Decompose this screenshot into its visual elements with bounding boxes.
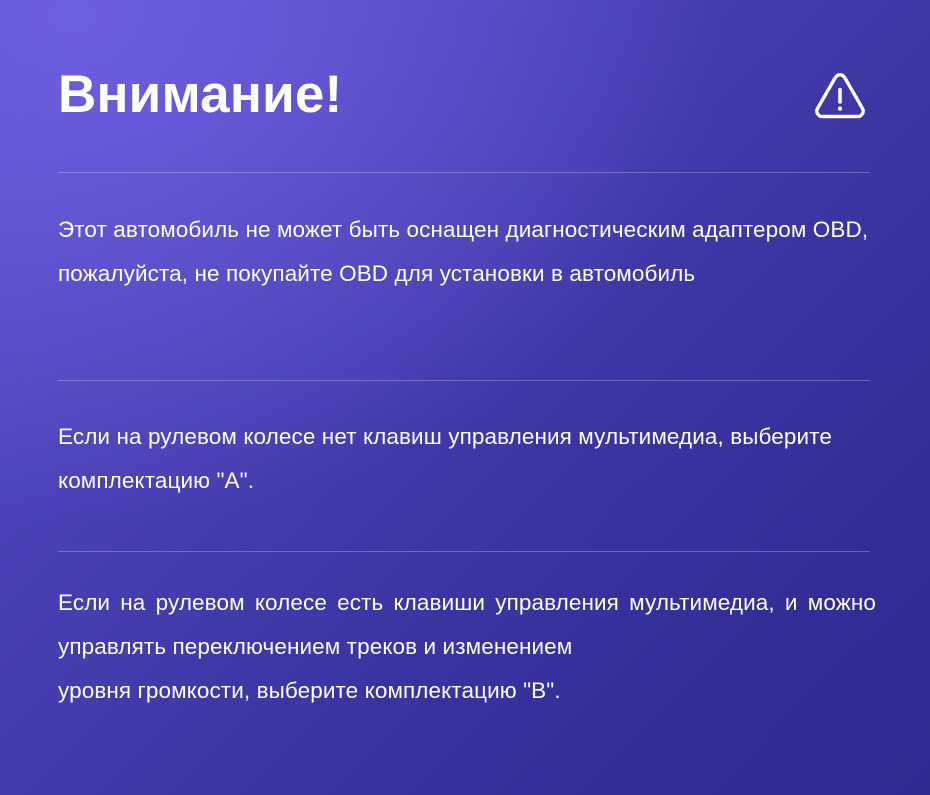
paragraph-variant-b-main: Если на рулевом колесе есть клавиши упра… — [58, 590, 876, 659]
paragraph-variant-b: Если на рулевом колесе есть клавиши упра… — [58, 581, 876, 713]
warning-triangle-icon — [812, 67, 872, 123]
paragraph-obd-adapter-warning: Этот автомобиль не может быть оснащен ди… — [58, 208, 876, 296]
paragraph-variant-b-last-line: уровня громкости, выберите комплектацию … — [58, 669, 876, 713]
divider-top — [58, 172, 870, 173]
page-title: Внимание! — [58, 67, 342, 123]
divider-middle — [58, 380, 870, 381]
notice-header: Внимание! — [58, 52, 872, 138]
paragraph-variant-a: Если на рулевом колесе нет клавиш управл… — [58, 415, 876, 503]
warning-notice-panel: Внимание! Этот автомобиль не может быть … — [0, 0, 930, 795]
divider-bottom — [58, 551, 870, 552]
